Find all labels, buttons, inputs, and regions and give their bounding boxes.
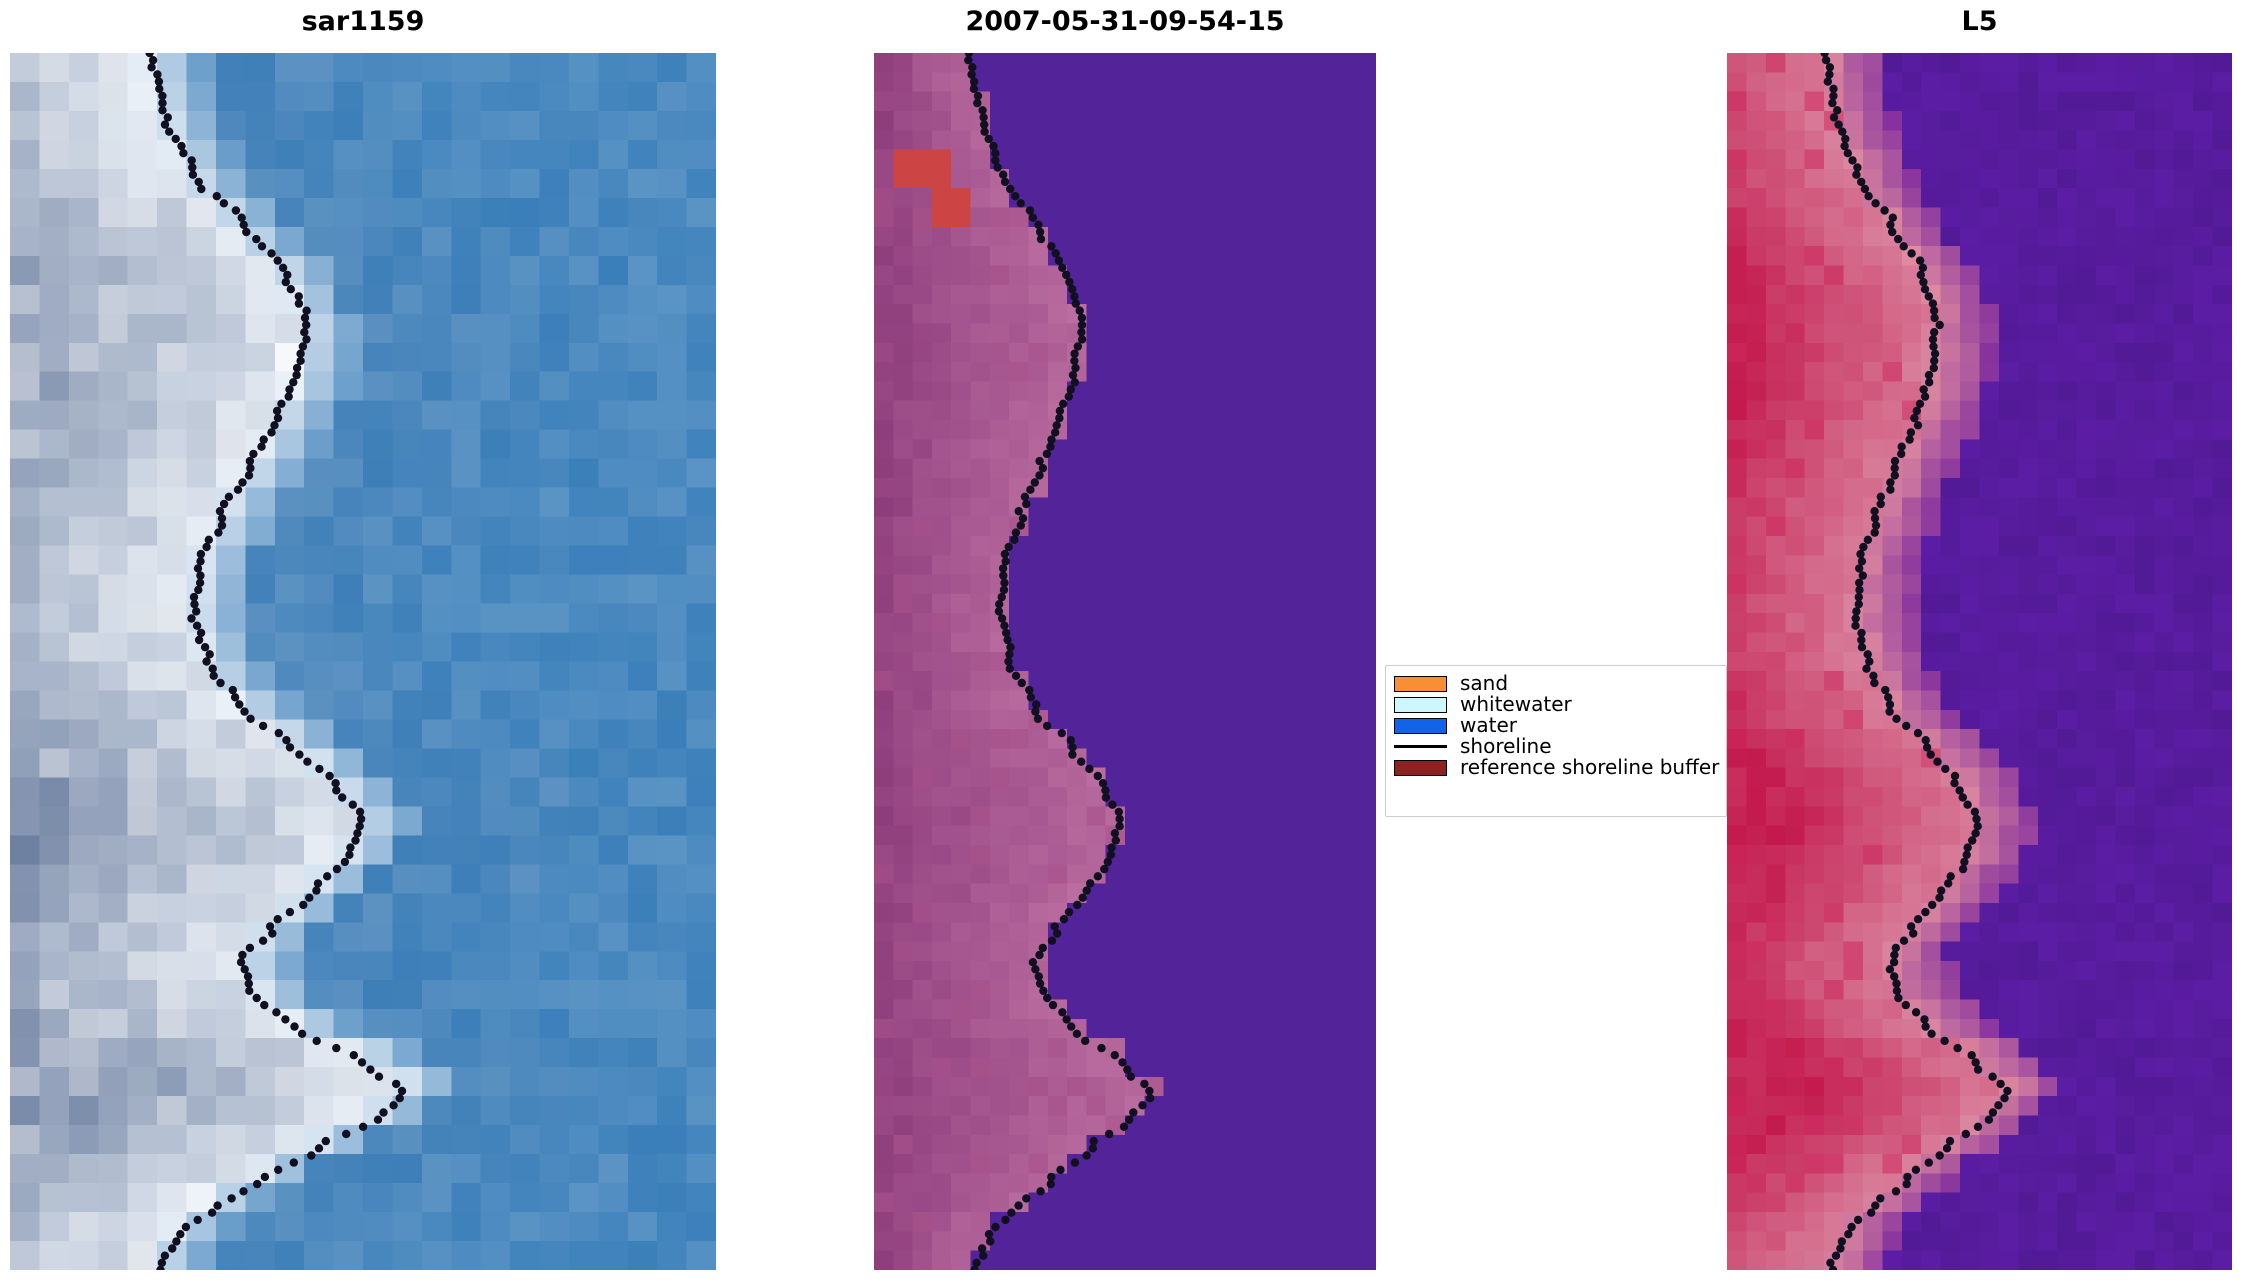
map-legend: sandwhitewaterwatershorelinereference sh… xyxy=(1385,665,1727,817)
legend-label: shoreline xyxy=(1460,736,1552,757)
l5-image-panel xyxy=(1727,53,2232,1270)
sar-shoreline-overlay xyxy=(10,53,716,1270)
panel-title-sar: sar1159 xyxy=(10,8,716,35)
legend-entry-water[interactable]: water xyxy=(1394,715,1717,736)
legend-entry-whitewater[interactable]: whitewater xyxy=(1394,694,1717,715)
legend-label: whitewater xyxy=(1460,694,1572,715)
panel-title-classified: 2007-05-31-09-54-15 xyxy=(874,8,1376,35)
legend-entry-sand[interactable]: sand xyxy=(1394,673,1717,694)
legend-swatch-water-icon xyxy=(1394,718,1447,734)
legend-label: sand xyxy=(1460,673,1508,694)
legend-swatch-reference-shoreline-buffer-icon xyxy=(1394,760,1447,776)
legend-swatch-shoreline-icon xyxy=(1394,739,1447,755)
classified-shoreline-overlay xyxy=(874,53,1376,1270)
l5-shoreline-overlay xyxy=(1727,53,2232,1270)
legend-label: water xyxy=(1460,715,1517,736)
legend-swatch-whitewater-icon xyxy=(1394,697,1447,713)
legend-entry-shoreline[interactable]: shoreline xyxy=(1394,736,1717,757)
legend-entry-reference-shoreline-buffer[interactable]: reference shoreline buffer xyxy=(1394,757,1717,778)
legend-swatch-sand-icon xyxy=(1394,676,1447,692)
classified-image-panel xyxy=(874,53,1376,1270)
panel-title-l5: L5 xyxy=(1727,8,2232,35)
legend-label: reference shoreline buffer xyxy=(1460,757,1719,778)
sar-image-panel xyxy=(10,53,716,1270)
